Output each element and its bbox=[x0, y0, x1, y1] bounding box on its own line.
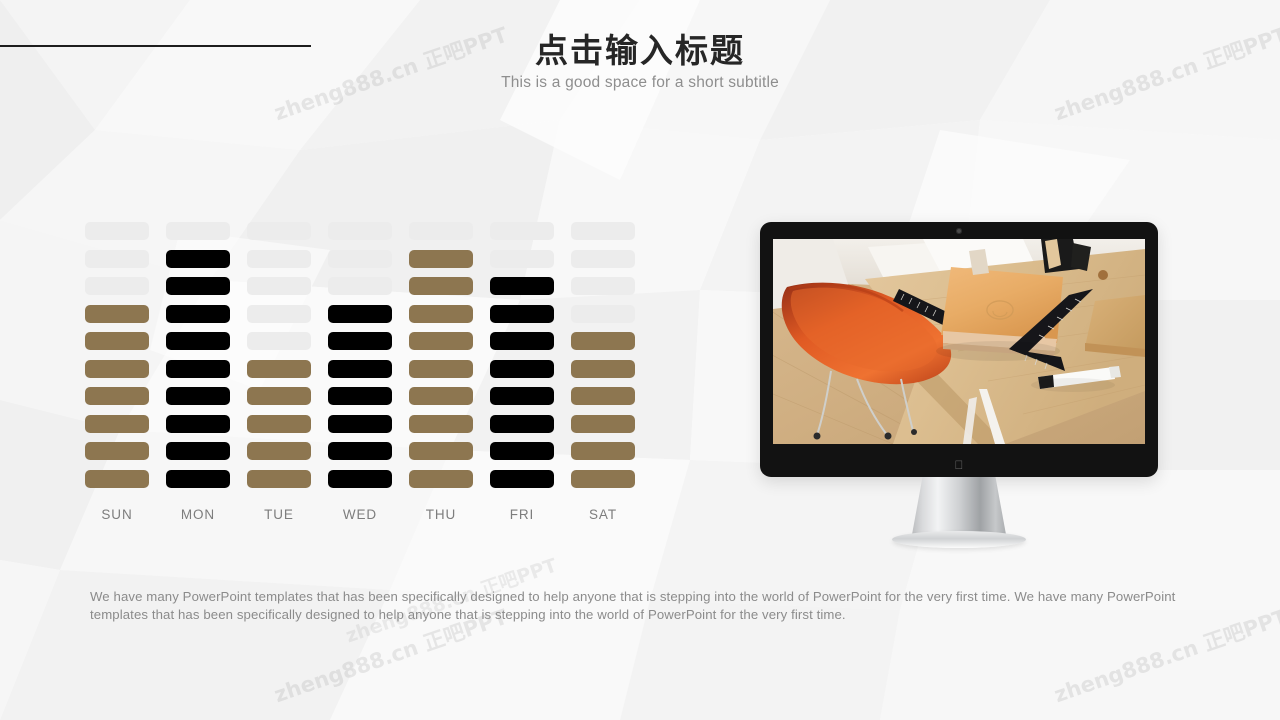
chart-segment-filled bbox=[166, 305, 230, 323]
chart-axis-label-sun: SUN bbox=[85, 507, 149, 522]
chart-axis-label-thu: THU bbox=[409, 507, 473, 522]
chart-segment-empty bbox=[409, 222, 473, 240]
chart-segment-empty bbox=[247, 250, 311, 268]
chart-segment-empty bbox=[247, 332, 311, 350]
chart-segment-filled bbox=[409, 277, 473, 295]
chart-segment-filled bbox=[409, 415, 473, 433]
desk-photo bbox=[773, 239, 1145, 444]
chart-segment-empty bbox=[571, 250, 635, 268]
webcam-icon bbox=[956, 228, 962, 234]
chart-segment-empty bbox=[247, 305, 311, 323]
chart-segment-filled bbox=[166, 387, 230, 405]
chart-segment-filled bbox=[247, 415, 311, 433]
chart-segment-filled bbox=[490, 332, 554, 350]
chart-segment-filled bbox=[85, 415, 149, 433]
chart-segment-filled bbox=[247, 442, 311, 460]
chart-segment-empty bbox=[85, 277, 149, 295]
chart-segment-empty bbox=[571, 277, 635, 295]
chart-segment-filled bbox=[490, 277, 554, 295]
chart-axis-label-tue: TUE bbox=[247, 507, 311, 522]
chart-segment-filled bbox=[490, 387, 554, 405]
chart-column-sat bbox=[571, 222, 635, 497]
chart-segment-filled bbox=[85, 360, 149, 378]
weekly-equalizer-chart: SUNMONTUEWEDTHUFRISAT bbox=[85, 222, 655, 534]
chart-segment-empty bbox=[328, 222, 392, 240]
chart-segment-filled bbox=[409, 387, 473, 405]
page-title: 点击输入标题 bbox=[340, 24, 940, 72]
chart-segment-filled bbox=[328, 442, 392, 460]
chart-segment-empty bbox=[85, 250, 149, 268]
chart-segment-filled bbox=[247, 387, 311, 405]
chart-column-tue bbox=[247, 222, 311, 497]
chart-segment-filled bbox=[571, 360, 635, 378]
chart-segment-filled bbox=[85, 305, 149, 323]
chart-column-thu bbox=[409, 222, 473, 497]
chart-axis-label-mon: MON bbox=[166, 507, 230, 522]
chart-column-mon bbox=[166, 222, 230, 497]
chart-column-sun bbox=[85, 222, 149, 497]
chart-segment-filled bbox=[409, 332, 473, 350]
chart-segment-filled bbox=[571, 442, 635, 460]
chart-segment-empty bbox=[571, 222, 635, 240]
chart-segment-empty bbox=[328, 277, 392, 295]
chart-segment-filled bbox=[328, 387, 392, 405]
chart-segment-filled bbox=[328, 470, 392, 488]
chart-segment-filled bbox=[166, 360, 230, 378]
chart-segment-empty bbox=[490, 250, 554, 268]
chart-column-wed bbox=[328, 222, 392, 497]
chart-segment-empty bbox=[247, 222, 311, 240]
chart-segment-filled bbox=[490, 442, 554, 460]
body-paragraph: We have many PowerPoint templates that h… bbox=[90, 588, 1182, 623]
chart-segment-empty bbox=[328, 250, 392, 268]
watermark: zheng888.cn 正吧PPT bbox=[1050, 19, 1280, 127]
chart-segment-filled bbox=[490, 360, 554, 378]
chart-segment-filled bbox=[328, 332, 392, 350]
chart-segment-filled bbox=[571, 387, 635, 405]
chart-segment-filled bbox=[328, 305, 392, 323]
slide-canvas: 点击输入标题 This is a good space for a short … bbox=[0, 0, 1280, 720]
monitor-bezel:  bbox=[760, 222, 1158, 477]
chart-column-fri bbox=[490, 222, 554, 497]
chart-segment-filled bbox=[328, 415, 392, 433]
chart-segment-empty bbox=[166, 222, 230, 240]
monitor-screen bbox=[773, 239, 1145, 444]
chart-segment-filled bbox=[571, 415, 635, 433]
chart-axis-label-sat: SAT bbox=[571, 507, 635, 522]
header-divider-line bbox=[0, 45, 311, 47]
chart-segment-filled bbox=[85, 332, 149, 350]
chart-segment-filled bbox=[85, 442, 149, 460]
chart-segment-filled bbox=[409, 442, 473, 460]
chart-segment-filled bbox=[166, 415, 230, 433]
chart-segment-filled bbox=[490, 415, 554, 433]
chart-segment-filled bbox=[166, 250, 230, 268]
chart-axis-label-wed: WED bbox=[328, 507, 392, 522]
chart-segment-filled bbox=[571, 332, 635, 350]
chart-segment-filled bbox=[247, 470, 311, 488]
chart-segment-filled bbox=[490, 470, 554, 488]
page-subtitle: This is a good space for a short subtitl… bbox=[340, 74, 940, 92]
chart-segment-filled bbox=[328, 360, 392, 378]
chart-segment-filled bbox=[409, 250, 473, 268]
chart-segment-empty bbox=[247, 277, 311, 295]
chart-segment-filled bbox=[166, 277, 230, 295]
chart-segment-filled bbox=[571, 470, 635, 488]
chart-segment-filled bbox=[166, 332, 230, 350]
apple-logo-icon:  bbox=[954, 459, 964, 471]
chart-segment-filled bbox=[409, 360, 473, 378]
chart-segment-filled bbox=[409, 470, 473, 488]
chart-segment-empty bbox=[490, 222, 554, 240]
chart-segment-empty bbox=[571, 305, 635, 323]
chart-segment-filled bbox=[490, 305, 554, 323]
chart-segment-filled bbox=[85, 387, 149, 405]
chart-segment-filled bbox=[247, 360, 311, 378]
chart-segment-filled bbox=[166, 442, 230, 460]
chart-segment-filled bbox=[409, 305, 473, 323]
imac-monitor-mockup:  bbox=[760, 222, 1158, 477]
monitor-stand-base bbox=[892, 531, 1026, 548]
chart-segment-empty bbox=[85, 222, 149, 240]
chart-segment-filled bbox=[166, 470, 230, 488]
chart-axis-label-fri: FRI bbox=[490, 507, 554, 522]
chart-segment-filled bbox=[85, 470, 149, 488]
